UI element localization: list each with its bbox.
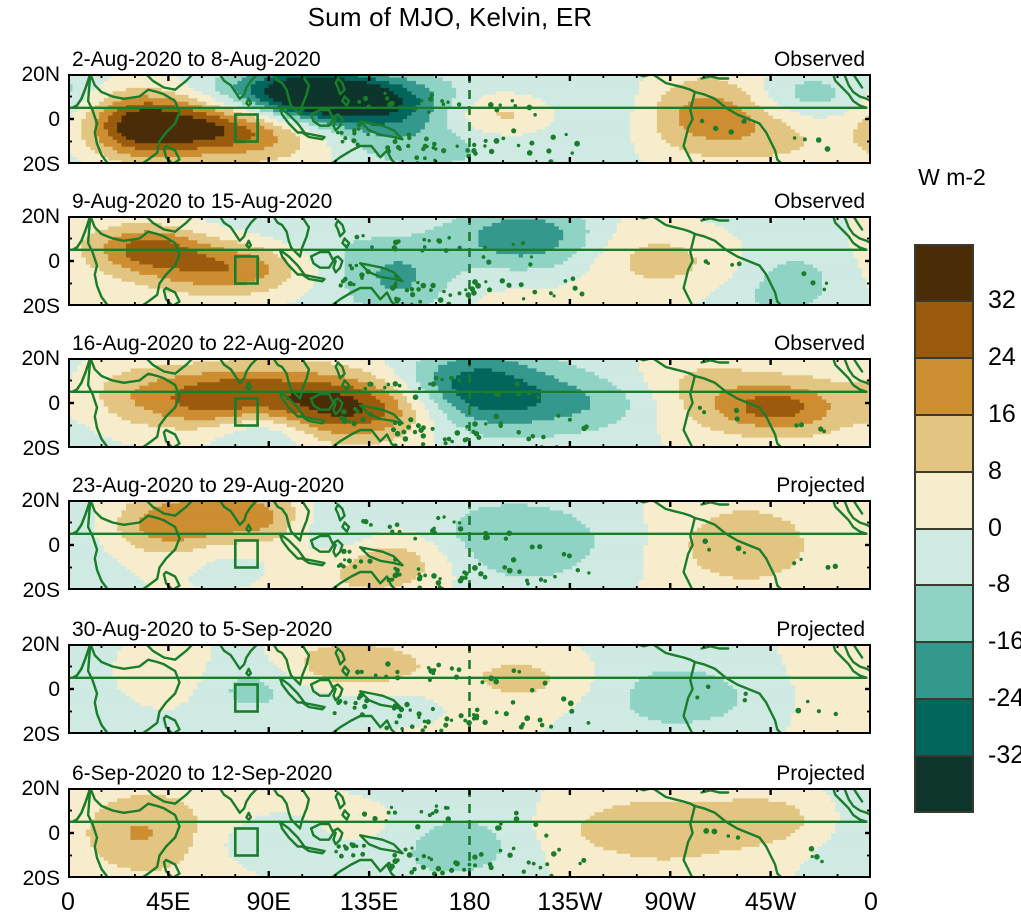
colorbar-tick-label: -8 [988, 572, 1010, 597]
colorbar-swatch [914, 699, 974, 756]
colorbar-tick-label: 8 [988, 459, 1002, 484]
colorbar-tick-label: -24 [988, 686, 1021, 711]
y-axis-tick-label: 20N [0, 490, 60, 511]
y-axis-tick-label: 0 [0, 251, 60, 272]
colorbar-tick-label: 0 [988, 516, 1002, 541]
panel-frame [68, 358, 871, 448]
panel-status-label: Observed [0, 333, 865, 354]
colorbar-divider [914, 471, 974, 473]
figure-canvas: Sum of MJO, Kelvin, ER 2-Aug-2020 to 8-A… [0, 0, 1021, 922]
colorbar-swatch [914, 415, 974, 472]
figure-title: Sum of MJO, Kelvin, ER [0, 2, 900, 33]
colorbar-swatch [914, 756, 974, 813]
y-axis-tick-label: 20S [0, 154, 60, 175]
panel-status-label: Observed [0, 49, 865, 70]
y-axis-tick-label: 0 [0, 823, 60, 844]
panel-status-label: Projected [0, 475, 865, 496]
colorbar-swatch [914, 244, 974, 301]
map-panel [68, 644, 871, 734]
y-axis-tick-label: 20N [0, 634, 60, 655]
colorbar-divider [914, 300, 974, 302]
y-axis-tick-label: 20S [0, 438, 60, 459]
map-panel [68, 216, 871, 306]
y-axis-tick-label: 20S [0, 296, 60, 317]
colorbar-tick-label: 16 [988, 402, 1016, 427]
y-axis-tick-label: 20N [0, 348, 60, 369]
map-panel [68, 500, 871, 590]
y-axis-tick-label: 20N [0, 778, 60, 799]
colorbar-unit-label: W m-2 [902, 166, 1002, 189]
colorbar-swatch [914, 529, 974, 586]
map-panel [68, 358, 871, 448]
panel-status-label: Projected [0, 763, 865, 784]
colorbar-divider [914, 357, 974, 359]
colorbar-divider [914, 528, 974, 530]
y-axis-tick-label: 0 [0, 535, 60, 556]
y-axis-tick-label: 0 [0, 109, 60, 130]
colorbar: W m-2 32241680-8-16-24-32 [914, 244, 974, 813]
y-axis-tick-label: 0 [0, 679, 60, 700]
colorbar-divider [914, 584, 974, 586]
panel-frame [68, 74, 871, 164]
colorbar-tick-label: -32 [988, 743, 1021, 768]
panel-status-label: Observed [0, 191, 865, 212]
y-axis-tick-label: 20S [0, 868, 60, 889]
y-axis-tick-label: 20S [0, 580, 60, 601]
y-axis-tick-label: 20N [0, 64, 60, 85]
y-axis-tick-label: 20S [0, 724, 60, 745]
panel-frame [68, 644, 871, 734]
colorbar-tick-label: -16 [988, 629, 1021, 654]
panel-frame [68, 500, 871, 590]
colorbar-tick-label: 32 [988, 288, 1016, 313]
map-panel [68, 788, 871, 878]
y-axis-tick-label: 20N [0, 206, 60, 227]
panel-frame [68, 788, 871, 878]
colorbar-divider [914, 755, 974, 757]
colorbar-divider [914, 641, 974, 643]
colorbar-divider [914, 414, 974, 416]
colorbar-tick-label: 24 [988, 345, 1016, 370]
panel-status-label: Projected [0, 619, 865, 640]
panel-frame [68, 216, 871, 306]
colorbar-swatch [914, 358, 974, 415]
map-panel [68, 74, 871, 164]
colorbar-swatch [914, 642, 974, 699]
colorbar-swatch [914, 301, 974, 358]
colorbar-divider [914, 698, 974, 700]
y-axis-tick-label: 0 [0, 393, 60, 414]
colorbar-swatch [914, 585, 974, 642]
x-axis-tick-label: 0 [811, 890, 931, 915]
colorbar-swatch [914, 472, 974, 529]
